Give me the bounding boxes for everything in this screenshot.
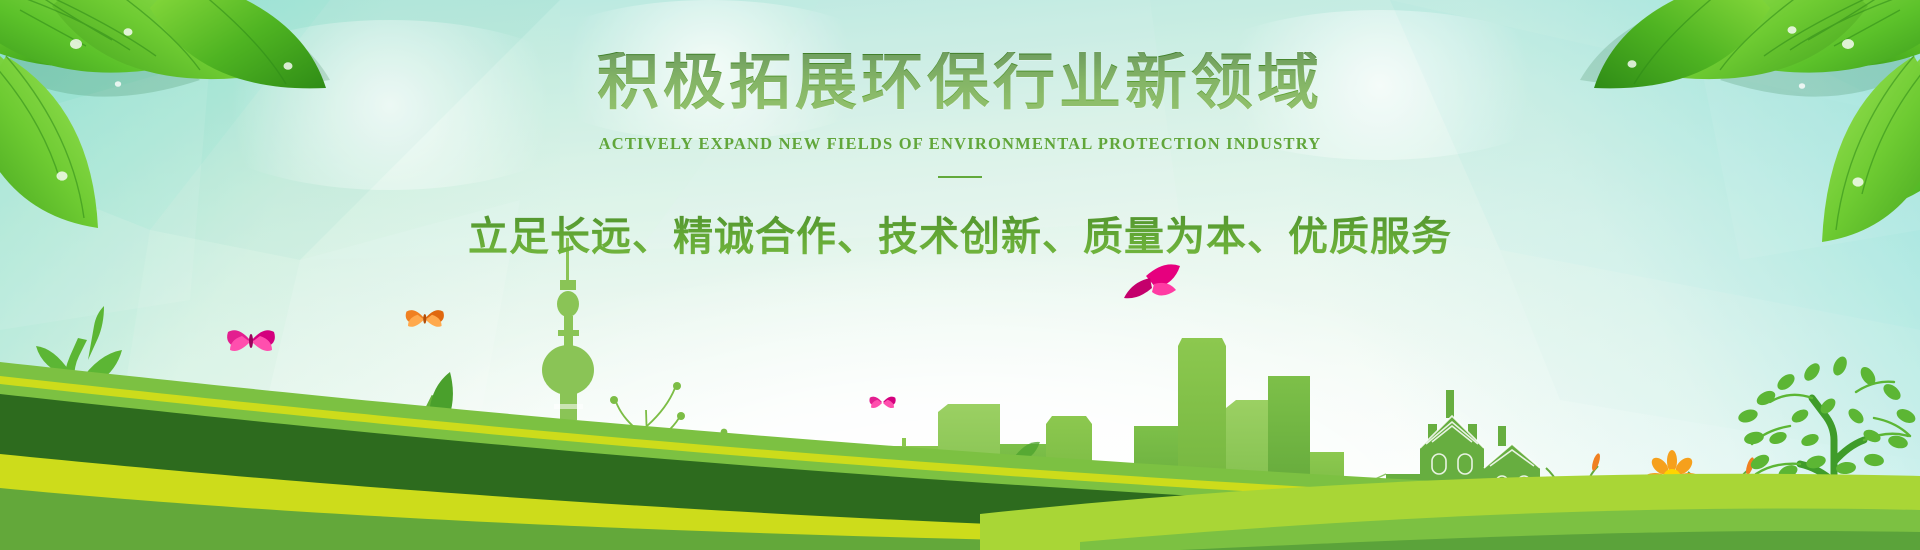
title-divider <box>938 176 982 178</box>
leaf-cluster-icon <box>1500 0 1920 250</box>
page-tagline: 立足长远、精诚合作、技术创新、质量为本、优质服务 <box>468 204 1452 262</box>
page-title: 积极拓展环保行业新领域 <box>597 52 1323 114</box>
eco-banner: 积极拓展环保行业新领域 ACTIVELY EXPAND NEW FIELDS O… <box>0 0 1920 550</box>
leaf-cluster-icon <box>0 0 420 230</box>
wave-bands <box>0 290 1920 550</box>
